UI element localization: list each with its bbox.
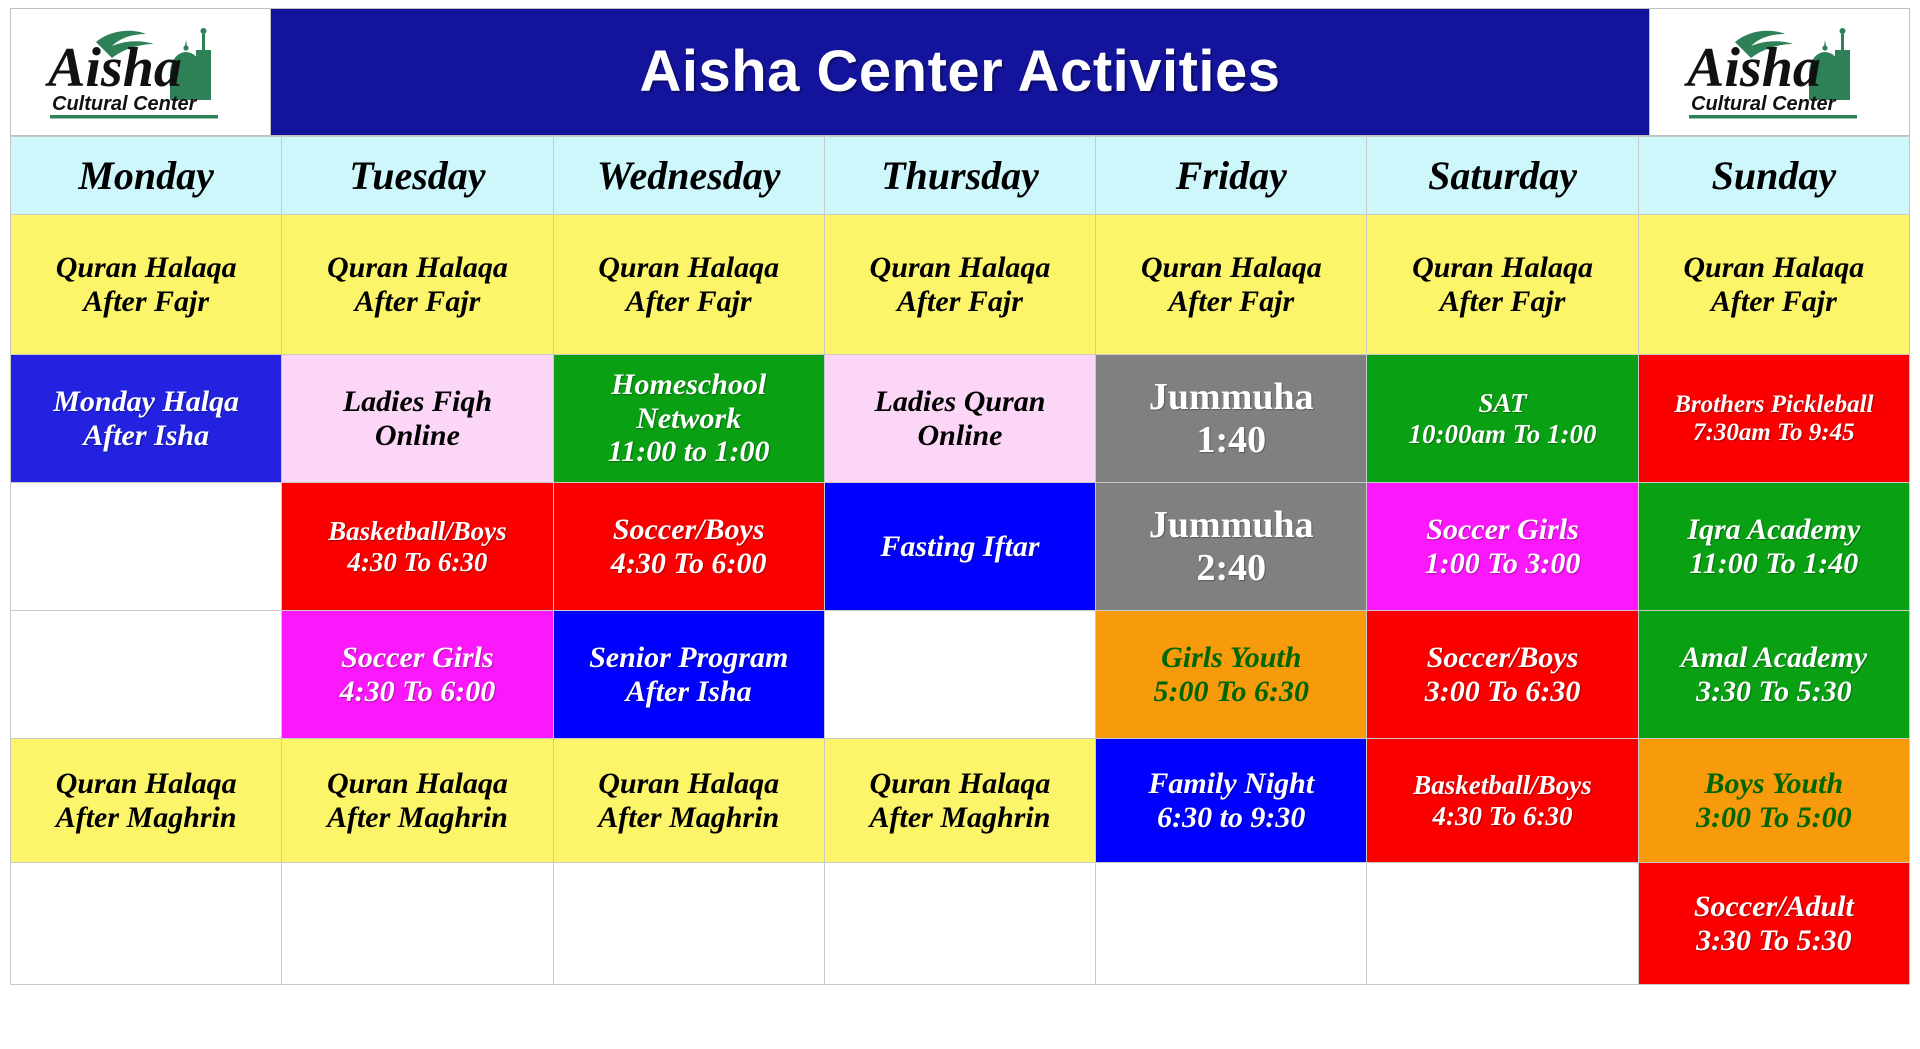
empty-cell [11, 483, 282, 611]
activity-line: 7:30am To 9:45 [1643, 419, 1905, 447]
activity-line: 4:30 To 6:00 [286, 675, 548, 709]
activity-line: After Fajr [15, 285, 277, 319]
activity-line: Quran Halaqa [15, 767, 277, 801]
day-header-saturday: Saturday [1367, 137, 1638, 215]
activity-line: Quran Halaqa [1643, 251, 1905, 285]
day-header-tuesday: Tuesday [282, 137, 553, 215]
activity-cell[interactable]: Soccer Girls1:00 To 3:00 [1367, 483, 1638, 611]
row-3: Basketball/Boys4:30 To 6:30Soccer/Boys4:… [11, 483, 1910, 611]
activity-cell[interactable]: Girls Youth5:00 To 6:30 [1096, 611, 1367, 739]
activity-line: Quran Halaqa [829, 767, 1091, 801]
svg-text:Cultural Center: Cultural Center [1691, 93, 1837, 115]
activity-line: Iqra Academy [1643, 513, 1905, 547]
activity-line: Soccer/Boys [558, 513, 820, 547]
row-2: Monday HalqaAfter IshaLadies FiqhOnlineH… [11, 355, 1910, 483]
activity-cell[interactable]: Quran HalaqaAfter Fajr [11, 215, 282, 355]
activity-line: After Maghrin [829, 801, 1091, 835]
activity-cell[interactable]: Basketball/Boys4:30 To 6:30 [1367, 739, 1638, 863]
maghrib-row: Quran HalaqaAfter MaghrinQuran HalaqaAft… [11, 739, 1910, 863]
empty-cell [553, 863, 824, 985]
activity-cell[interactable]: Iqra Academy11:00 To 1:40 [1638, 483, 1909, 611]
activity-line: 11:00 to 1:00 [608, 435, 770, 468]
activity-line: SAT [1371, 388, 1633, 418]
activity-line: After Maghrin [15, 801, 277, 835]
activity-line: Amal Academy [1643, 641, 1905, 675]
activity-cell[interactable]: HomeschoolNetwork11:00 to 1:00 [553, 355, 824, 483]
activity-cell[interactable]: Quran HalaqaAfter Maghrin [824, 739, 1095, 863]
activity-cell[interactable]: Soccer Girls4:30 To 6:00 [282, 611, 553, 739]
activity-cell[interactable]: SAT10:00am To 1:00 [1367, 355, 1638, 483]
activity-line: 2:40 [1100, 547, 1362, 590]
activity-cell[interactable]: Quran HalaqaAfter Fajr [282, 215, 553, 355]
activity-cell[interactable]: Family Night6:30 to 9:30 [1096, 739, 1367, 863]
activity-cell[interactable]: Brothers Pickleball7:30am To 9:45 [1638, 355, 1909, 483]
activity-line: Network [558, 402, 820, 436]
activities-body: Quran HalaqaAfter FajrQuran HalaqaAfter … [11, 215, 1910, 985]
activity-line: Ladies Quran [829, 385, 1091, 419]
activity-line: Soccer/Adult [1643, 890, 1905, 924]
svg-text:Cultural Center: Cultural Center [52, 93, 198, 115]
activity-line: After Isha [15, 419, 277, 453]
activity-line: Quran Halaqa [15, 251, 277, 285]
activity-line: 10:00am To 1:00 [1371, 419, 1633, 449]
activity-line: 1:40 [1100, 419, 1362, 462]
activity-line: Brothers Pickleball [1643, 391, 1905, 419]
activity-cell[interactable]: Quran HalaqaAfter Maghrin [11, 739, 282, 863]
activity-cell[interactable]: Soccer/Boys3:00 To 6:30 [1367, 611, 1638, 739]
activity-line: After Fajr [558, 285, 820, 319]
activity-line: After Maghrin [286, 801, 548, 835]
activity-line: Basketball/Boys [286, 516, 548, 546]
activity-cell[interactable]: Soccer/Boys4:30 To 6:00 [553, 483, 824, 611]
day-header-friday: Friday [1096, 137, 1367, 215]
activity-cell[interactable]: Jummuha1:40 [1096, 355, 1367, 483]
activity-line: Soccer Girls [286, 641, 548, 675]
activity-cell[interactable]: Quran HalaqaAfter Maghrin [553, 739, 824, 863]
activity-cell[interactable]: Quran HalaqaAfter Fajr [824, 215, 1095, 355]
day-header-wednesday: Wednesday [553, 137, 824, 215]
activity-line: Quran Halaqa [558, 767, 820, 801]
logo-icon: Aisha Cultural Center [1665, 20, 1895, 124]
aisha-cultural-center-logo-left: Aisha Cultural Center [26, 20, 256, 124]
logo-cell-right: Aisha Cultural Center [1649, 9, 1909, 135]
svg-text:Aisha: Aisha [1684, 37, 1821, 99]
activity-line: 5:00 To 6:30 [1100, 675, 1362, 709]
empty-cell [824, 611, 1095, 739]
activity-line: Jummuha [1100, 504, 1362, 547]
activity-line: Girls Youth [1100, 641, 1362, 675]
day-header-thursday: Thursday [824, 137, 1095, 215]
activity-line: 4:30 To 6:30 [1371, 801, 1633, 831]
day-header-row: Monday Tuesday Wednesday Thursday Friday… [11, 137, 1910, 215]
activity-line: Monday Halqa [15, 385, 277, 419]
activity-line: 3:00 To 5:00 [1643, 801, 1905, 835]
activity-line: Fasting Iftar [829, 530, 1091, 564]
activity-line: Boys Youth [1643, 767, 1905, 801]
activity-line: After Fajr [829, 285, 1091, 319]
activity-cell[interactable]: Senior ProgramAfter Isha [553, 611, 824, 739]
activity-cell[interactable]: Soccer/Adult3:30 To 5:30 [1638, 863, 1909, 985]
activity-line: 4:30 To 6:00 [558, 547, 820, 581]
activity-line: Online [286, 419, 548, 453]
activity-line: Quran Halaqa [829, 251, 1091, 285]
activity-cell[interactable]: Quran HalaqaAfter Maghrin [282, 739, 553, 863]
activity-line: Jummuha [1100, 376, 1362, 419]
empty-cell [11, 863, 282, 985]
activity-cell[interactable]: Quran HalaqaAfter Fajr [1367, 215, 1638, 355]
empty-cell [1367, 863, 1638, 985]
activity-line: Family Night [1100, 767, 1362, 801]
activity-line: 3:30 To 5:30 [1643, 924, 1905, 958]
activity-line: Soccer/Boys [1371, 641, 1633, 675]
activity-cell[interactable]: Quran HalaqaAfter Fajr [1096, 215, 1367, 355]
title-banner: Aisha Center Activities [271, 9, 1649, 135]
activity-cell[interactable]: Ladies QuranOnline [824, 355, 1095, 483]
activity-line: Basketball/Boys [1371, 770, 1633, 800]
activity-line: Quran Halaqa [1100, 251, 1362, 285]
activity-cell[interactable]: Quran HalaqaAfter Fajr [1638, 215, 1909, 355]
aisha-cultural-center-logo-right: Aisha Cultural Center [1665, 20, 1895, 124]
activities-schedule-page: Aisha Cultural Center Aisha Center Activ… [0, 0, 1920, 1049]
empty-cell [1096, 863, 1367, 985]
svg-text:Aisha: Aisha [45, 37, 182, 99]
activity-line: 6:30 to 9:30 [1100, 801, 1362, 835]
fajr-row: Quran HalaqaAfter FajrQuran HalaqaAfter … [11, 215, 1910, 355]
activity-line: Online [829, 419, 1091, 453]
activity-line: After Isha [558, 675, 820, 709]
activity-line: Homeschool [558, 368, 820, 402]
activity-line: Soccer Girls [1371, 513, 1633, 547]
activity-cell[interactable]: Jummuha2:40 [1096, 483, 1367, 611]
activity-cell[interactable]: Basketball/Boys4:30 To 6:30 [282, 483, 553, 611]
activity-cell[interactable]: Monday HalqaAfter Isha [11, 355, 282, 483]
activity-line: 3:00 To 6:30 [1371, 675, 1633, 709]
activity-cell[interactable]: Fasting Iftar [824, 483, 1095, 611]
empty-cell [11, 611, 282, 739]
activity-line: 4:30 To 6:30 [286, 547, 548, 577]
logo-cell-left: Aisha Cultural Center [11, 9, 271, 135]
activity-line: 1:00 To 3:00 [1371, 547, 1633, 581]
activity-line: After Fajr [1643, 285, 1905, 319]
activity-line: Senior Program [558, 641, 820, 675]
activity-line: Quran Halaqa [286, 767, 548, 801]
weekly-activities-table: Monday Tuesday Wednesday Thursday Friday… [10, 136, 1910, 985]
activity-line: Quran Halaqa [286, 251, 548, 285]
logo-icon: Aisha Cultural Center [26, 20, 256, 124]
day-header-sunday: Sunday [1638, 137, 1909, 215]
activity-cell[interactable]: Ladies FiqhOnline [282, 355, 553, 483]
activity-line: After Fajr [1371, 285, 1633, 319]
activity-cell[interactable]: Boys Youth3:00 To 5:00 [1638, 739, 1909, 863]
day-header-monday: Monday [11, 137, 282, 215]
activity-line: Quran Halaqa [1371, 251, 1633, 285]
activity-cell[interactable]: Quran HalaqaAfter Fajr [553, 215, 824, 355]
activity-line: Quran Halaqa [558, 251, 820, 285]
empty-cell [824, 863, 1095, 985]
activity-line: After Maghrin [558, 801, 820, 835]
activity-line: After Fajr [286, 285, 548, 319]
activity-line: 3:30 To 5:30 [1643, 675, 1905, 709]
last-row: Soccer/Adult3:30 To 5:30 [11, 863, 1910, 985]
row-4: Soccer Girls4:30 To 6:00Senior ProgramAf… [11, 611, 1910, 739]
activity-cell[interactable]: Amal Academy3:30 To 5:30 [1638, 611, 1909, 739]
page-header: Aisha Cultural Center Aisha Center Activ… [10, 8, 1910, 136]
activity-line: After Fajr [1100, 285, 1362, 319]
activity-line: 11:00 To 1:40 [1643, 547, 1905, 581]
empty-cell [282, 863, 553, 985]
activity-line: Ladies Fiqh [286, 385, 548, 419]
page-title: Aisha Center Activities [639, 43, 1280, 101]
